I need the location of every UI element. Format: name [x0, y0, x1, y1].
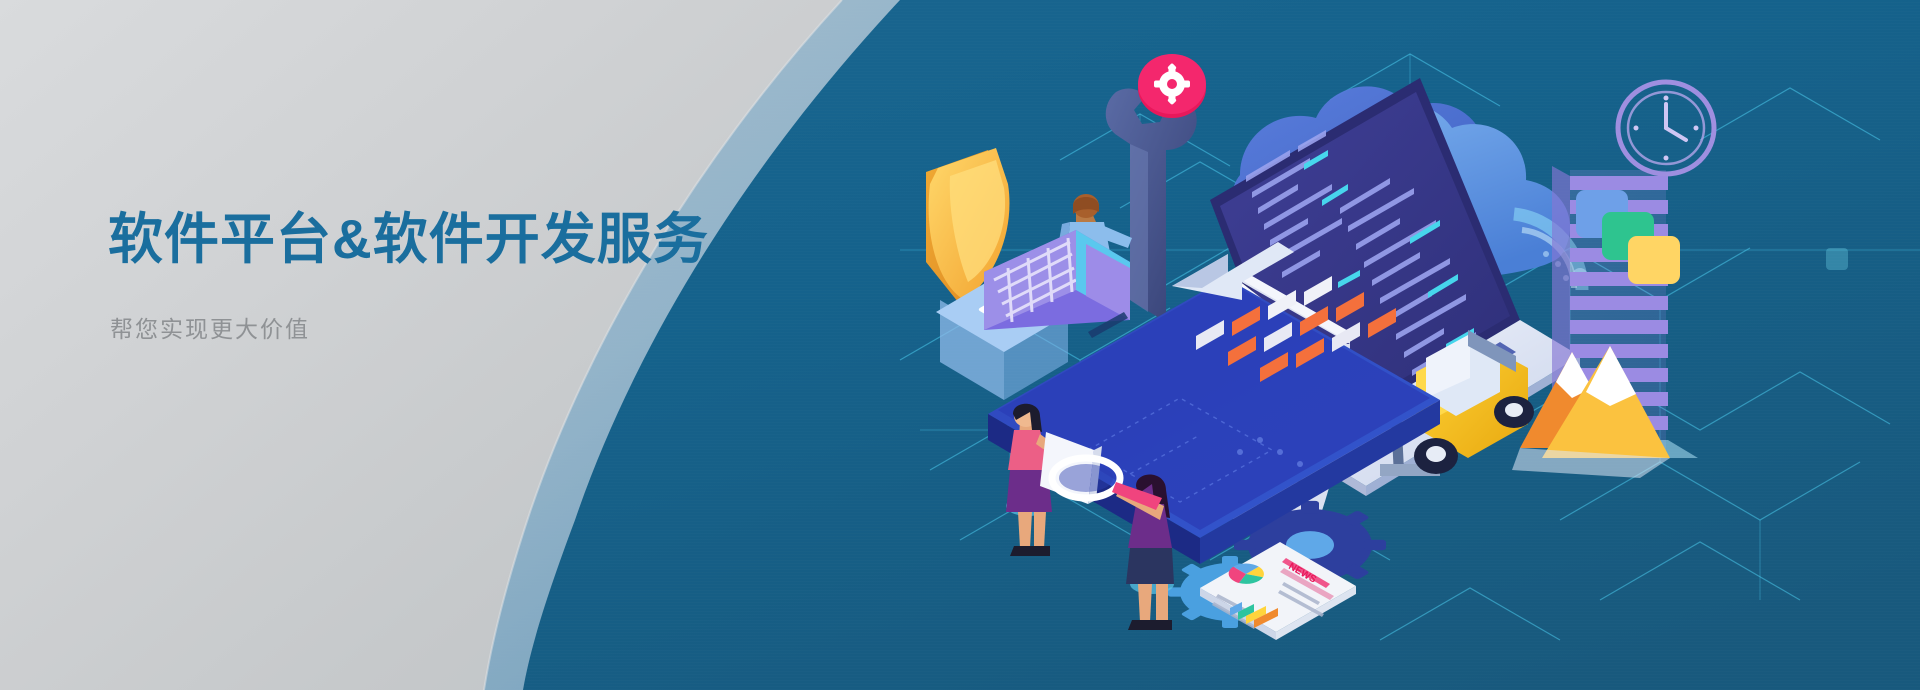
- hero-banner: 软件平台&软件开发服务 帮您实现更大价值: [0, 0, 1920, 690]
- gear-badge-icon: [1138, 54, 1206, 118]
- clock-icon: [1618, 82, 1714, 174]
- left-gray-panel: [0, 0, 900, 690]
- page-subtitle: 帮您实现更大价值: [110, 310, 748, 344]
- page-title: 软件平台&软件开发服务: [108, 205, 748, 274]
- text-block: 软件平台&软件开发服务 帮您实现更大价值: [108, 205, 748, 344]
- hero-illustration: NEWS: [880, 0, 1920, 690]
